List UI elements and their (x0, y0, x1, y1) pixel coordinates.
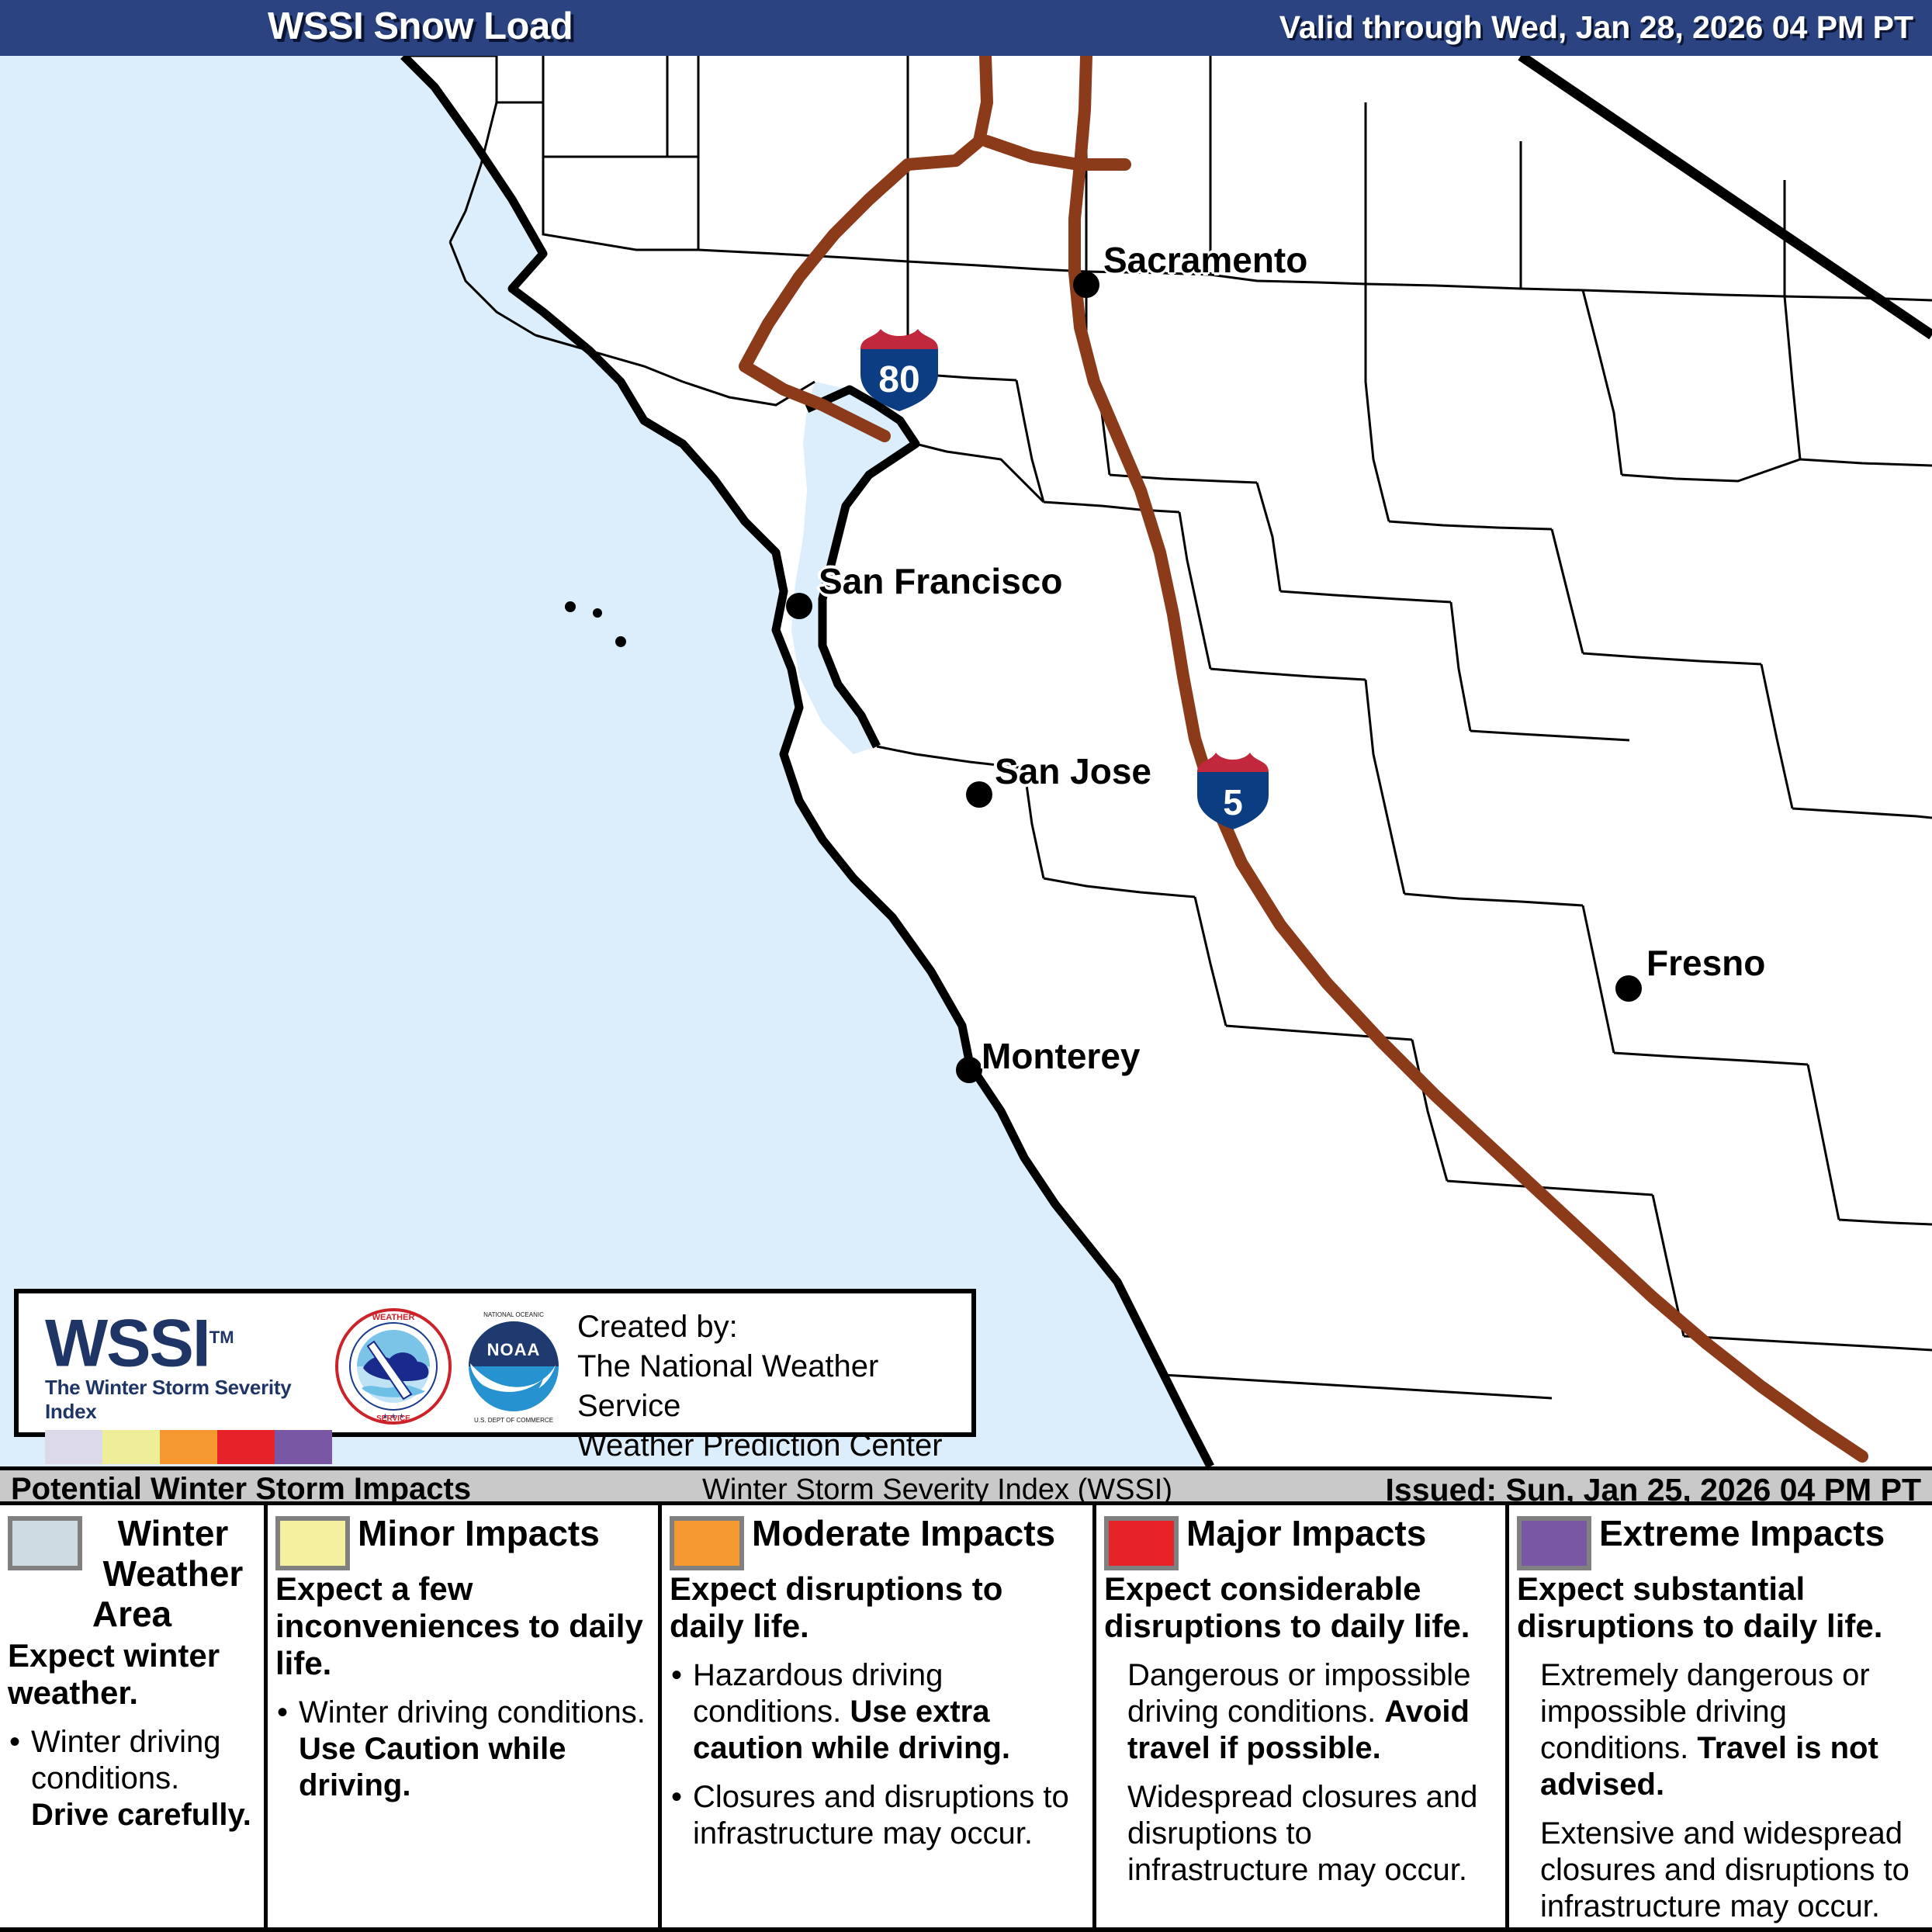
wssi-snow-load-page: WSSI Snow Load Valid through Wed, Jan 28… (0, 0, 1932, 1932)
nws-logo: ★ ★ ★ WEATHER SERVICE (335, 1307, 452, 1429)
interstate-5-number: 5 (1195, 781, 1271, 823)
city-label-san-francisco: San Francisco (819, 560, 1062, 602)
legend-bullets-minor-impacts: • Winter driving conditions. Use Caution… (275, 1695, 650, 1804)
impacts-legend: Winter Weather Area Expect winter weathe… (0, 1505, 1932, 1932)
potential-impacts-label: Potential Winter Storm Impacts (11, 1472, 471, 1507)
city-dot-fresno (1615, 975, 1642, 1002)
legend-header-extreme-impacts: Extreme Impacts (1517, 1513, 1924, 1553)
legend-leadin-extreme-impacts: Expect substantial disruptions to daily … (1517, 1570, 1924, 1645)
legend-leadin-moderate-impacts: Expect disruptions to daily life. (670, 1570, 1085, 1645)
wssi-color-scale (45, 1430, 332, 1464)
city-label-san-jose: San Jose (995, 750, 1151, 792)
wssi-wordmark-group: WSSITM The Winter Storm Severity Index (45, 1301, 348, 1464)
interstate-shield-5[interactable]: 5 (1195, 750, 1271, 831)
wssi-subtitle-label: Winter Storm Severity Index (WSSI) (702, 1473, 1172, 1507)
interstate-shield-80[interactable]: 80 (857, 326, 941, 413)
bullet-text-bold: Drive carefully. (31, 1798, 251, 1832)
bullet-icon: • (9, 1724, 20, 1761)
city-label-monterey: Monterey (982, 1035, 1140, 1077)
legend-column-minor-impacts[interactable]: Minor Impacts Expect a few inconvenience… (268, 1505, 662, 1927)
legend-column-moderate-impacts[interactable]: Moderate Impacts Expect disruptions to d… (662, 1505, 1096, 1927)
legend-swatch-moderate-impacts (670, 1516, 744, 1570)
legend-bullet-item: • Extremely dangerous or impossible driv… (1517, 1657, 1924, 1803)
valid-through-text: Valid through Wed, Jan 28, 2026 04 PM PT (1279, 9, 1913, 46)
legend-bullet-item: • Extensive and widespread closures and … (1517, 1816, 1924, 1925)
legend-swatch-extreme-impacts (1517, 1516, 1591, 1570)
legend-swatch-minor-impacts (275, 1516, 350, 1570)
island-dot (615, 636, 626, 647)
legend-swatch-major-impacts (1104, 1516, 1179, 1570)
wssi-wordmark-text: WSSI (45, 1307, 209, 1381)
island-dot (593, 608, 602, 618)
created-by-line-1: Created by: (577, 1307, 971, 1347)
created-by-block: Created by: The National Weather Service… (577, 1307, 971, 1466)
bullet-icon: • (277, 1695, 288, 1731)
wssi-subtitle: The Winter Storm Severity Index (45, 1376, 348, 1424)
issued-label: Issued: Sun, Jan 25, 2026 04 PM PT (1386, 1472, 1921, 1508)
legend-bullets-extreme-impacts: • Extremely dangerous or impossible driv… (1517, 1657, 1924, 1927)
bullet-text-normal: Winter driving conditions. (299, 1695, 646, 1729)
bullet-text-normal: Winter driving conditions. (31, 1725, 221, 1795)
wssi-logo-box: WSSITM The Winter Storm Severity Index (14, 1289, 976, 1437)
bullet-text-normal: Widespread closures and disruptions to i… (1127, 1780, 1477, 1887)
legend-bullet-item: • Widespread closures and disruptions to… (1104, 1779, 1497, 1889)
map-canvas[interactable]: 80 5 Sacramento San Francisco San Jose F… (0, 56, 1932, 1466)
created-by-line-2: The National Weather Service (577, 1347, 971, 1426)
scale-swatch-major (217, 1430, 275, 1464)
bullet-text-normal: Extensive and widespread closures and di… (1540, 1816, 1909, 1923)
city-dot-san-francisco (786, 593, 812, 619)
scale-swatch-extreme (275, 1430, 332, 1464)
legend-column-extreme-impacts[interactable]: Extreme Impacts Expect substantial disru… (1509, 1505, 1932, 1927)
city-dot-sacramento (1073, 272, 1099, 298)
legend-leadin-major-impacts: Expect considerable disruptions to daily… (1104, 1570, 1497, 1645)
legend-bullet-item: • Winter driving conditions. Use Caution… (275, 1695, 650, 1804)
legend-header-moderate-impacts: Moderate Impacts (670, 1513, 1085, 1553)
legend-bullets-major-impacts: • Dangerous or impossible driving condit… (1104, 1657, 1497, 1889)
svg-text:SERVICE: SERVICE (376, 1414, 410, 1423)
legend-bullets-winter-weather-area: • Winter driving conditions. Drive caref… (8, 1724, 256, 1833)
page-header: WSSI Snow Load Valid through Wed, Jan 28… (0, 0, 1932, 56)
scale-swatch-moderate (160, 1430, 217, 1464)
city-label-sacramento: Sacramento (1103, 239, 1307, 281)
legend-header-minor-impacts: Minor Impacts (275, 1513, 650, 1553)
legend-bullet-item: • Winter driving conditions. Drive caref… (8, 1724, 256, 1833)
bullet-text-bold: Use Caution while driving. (299, 1732, 566, 1802)
scale-swatch-winter-weather (45, 1430, 102, 1464)
impacts-title-bar: Potential Winter Storm Impacts Winter St… (0, 1466, 1932, 1505)
city-label-fresno: Fresno (1646, 942, 1765, 984)
legend-column-winter-weather-area[interactable]: Winter Weather Area Expect winter weathe… (0, 1505, 268, 1927)
interstate-80-number: 80 (857, 358, 941, 401)
legend-bullet-item: • Closures and disruptions to infrastruc… (670, 1779, 1085, 1852)
page-title: WSSI Snow Load (268, 5, 573, 48)
legend-bullet-item: • Hazardous driving conditions. Use extr… (670, 1657, 1085, 1767)
bullet-text-normal: Closures and disruptions to infrastructu… (693, 1780, 1069, 1851)
legend-column-major-impacts[interactable]: Major Impacts Expect considerable disrup… (1096, 1505, 1509, 1927)
map-vector-layer (0, 56, 1932, 1466)
svg-text:NOAA: NOAA (487, 1340, 541, 1359)
city-dot-san-jose (966, 781, 992, 808)
scale-swatch-minor (102, 1430, 160, 1464)
legend-leadin-winter-weather-area: Expect winter weather. (8, 1637, 256, 1712)
legend-header-winter-weather-area: Winter Weather Area (8, 1513, 256, 1634)
noaa-logo: NOAA NATIONAL OCEANIC U.S. DEPT OF COMME… (455, 1307, 573, 1429)
bullet-icon: • (671, 1779, 682, 1816)
city-dot-monterey (956, 1057, 982, 1083)
svg-text:U.S. DEPT OF COMMERCE: U.S. DEPT OF COMMERCE (474, 1417, 553, 1424)
legend-leadin-minor-impacts: Expect a few inconveniences to daily lif… (275, 1570, 650, 1682)
island-dot (565, 601, 576, 612)
svg-text:WEATHER: WEATHER (372, 1313, 415, 1322)
legend-bullets-moderate-impacts: • Hazardous driving conditions. Use extr… (670, 1657, 1085, 1852)
wssi-trademark-mark: TM (209, 1328, 234, 1347)
legend-header-major-impacts: Major Impacts (1104, 1513, 1497, 1553)
wssi-wordmark: WSSITM (45, 1301, 348, 1380)
bullet-icon: • (671, 1657, 682, 1694)
created-by-line-3: Weather Prediction Center (577, 1426, 971, 1466)
svg-text:NATIONAL OCEANIC: NATIONAL OCEANIC (483, 1311, 544, 1318)
legend-bullet-item: • Dangerous or impossible driving condit… (1104, 1657, 1497, 1767)
legend-swatch-winter-weather-area (8, 1516, 82, 1570)
